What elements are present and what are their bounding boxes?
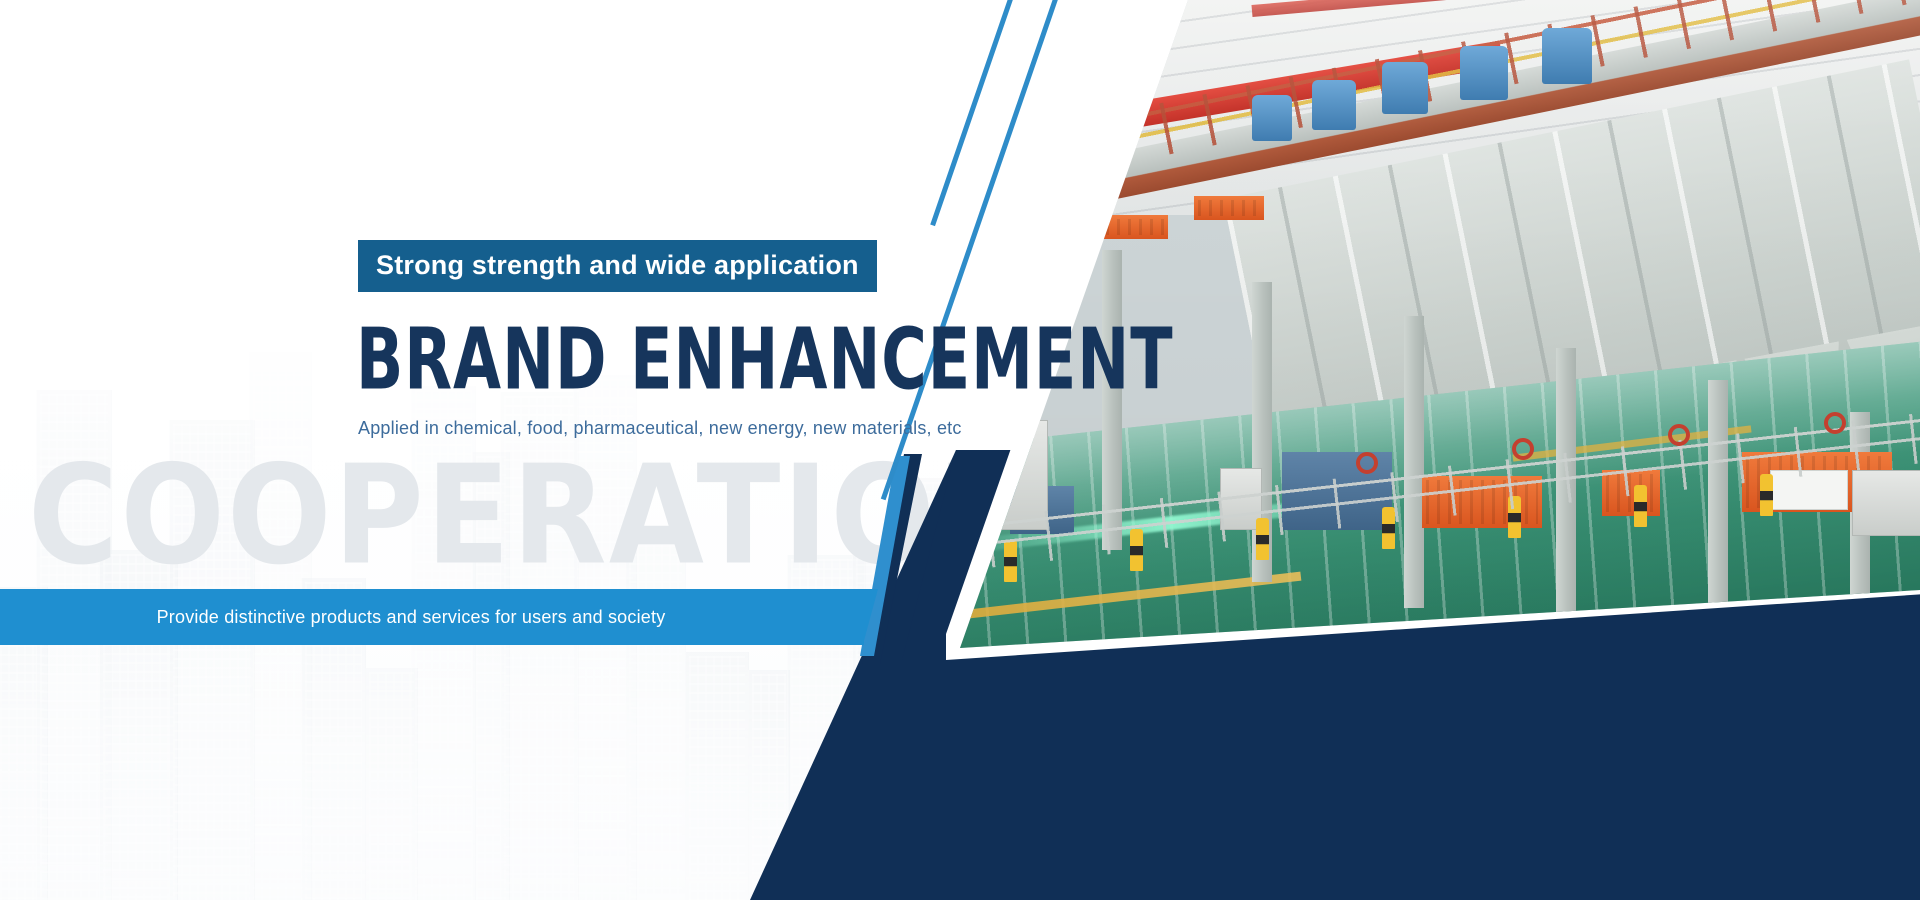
red-valve-handwheel <box>1668 424 1690 446</box>
page-title: BRAND ENHANCEMENT <box>356 318 1174 403</box>
hero-banner: COOPERATION Strong strength and wide app… <box>0 0 1920 900</box>
orange-equipment-cabinet <box>1194 196 1264 220</box>
red-valve-handwheel <box>1824 412 1846 434</box>
tagline-badge: Strong strength and wide application <box>358 240 877 292</box>
red-valve-handwheel <box>1512 438 1534 460</box>
blue-process-tank <box>1460 46 1508 100</box>
steel-support-column <box>1708 380 1728 640</box>
subtitle-text: Applied in chemical, food, pharmaceutica… <box>358 418 962 439</box>
blue-process-tank <box>1312 80 1356 130</box>
ribbon-text: Provide distinctive products and service… <box>0 589 822 645</box>
blue-process-tank <box>1252 95 1292 141</box>
control-cabinet <box>1852 470 1920 536</box>
blue-process-tank <box>1542 28 1592 84</box>
orange-equipment-cabinet <box>1102 215 1168 239</box>
blue-process-tank <box>1382 62 1428 114</box>
steel-support-column <box>1404 316 1424 608</box>
red-valve-handwheel <box>1356 452 1378 474</box>
